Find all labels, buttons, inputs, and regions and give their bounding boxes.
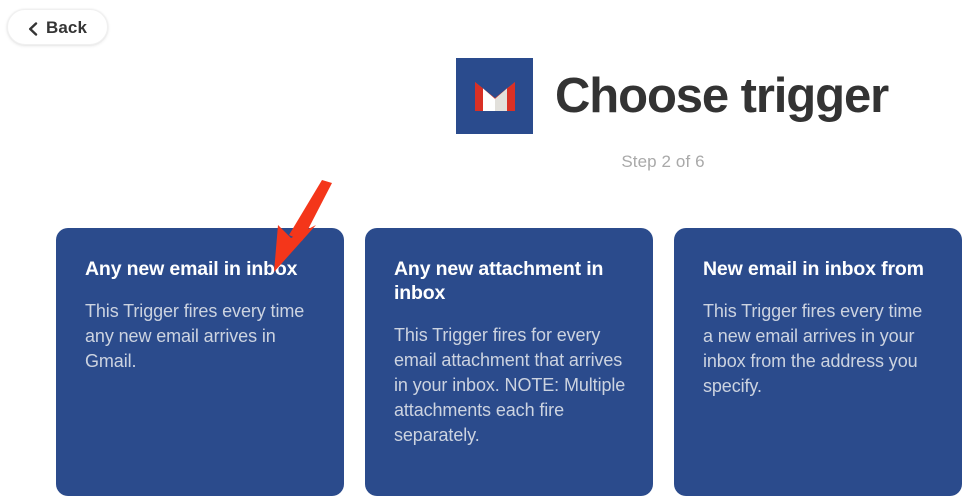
back-button-label: Back	[46, 19, 87, 36]
trigger-card-any-new-email-in-inbox[interactable]: Any new email in inbox This Trigger fire…	[56, 228, 344, 496]
trigger-card-title: Any new attachment in inbox	[394, 257, 627, 305]
step-indicator: Step 2 of 6	[456, 152, 870, 172]
trigger-card-description: This Trigger fires every time any new em…	[85, 299, 318, 374]
trigger-card-new-email-in-inbox-from[interactable]: New email in inbox from This Trigger fir…	[674, 228, 962, 496]
chevron-left-icon	[28, 22, 39, 33]
back-button[interactable]: Back	[7, 9, 108, 45]
gmail-icon	[456, 58, 533, 134]
app-screen: Back Choose trigger	[0, 0, 969, 501]
trigger-card-description: This Trigger fires every time a new emai…	[703, 299, 936, 399]
trigger-card-description: This Trigger fires for every email attac…	[394, 323, 627, 448]
trigger-card-any-new-attachment-in-inbox[interactable]: Any new attachment in inbox This Trigger…	[365, 228, 653, 496]
trigger-card-title: New email in inbox from	[703, 257, 936, 281]
page-title: Choose trigger	[555, 72, 888, 121]
trigger-card-title: Any new email in inbox	[85, 257, 318, 281]
header-row: Choose trigger	[456, 58, 888, 134]
trigger-card-list: Any new email in inbox This Trigger fire…	[56, 228, 922, 501]
page-header: Choose trigger Step 2 of 6	[0, 0, 969, 200]
